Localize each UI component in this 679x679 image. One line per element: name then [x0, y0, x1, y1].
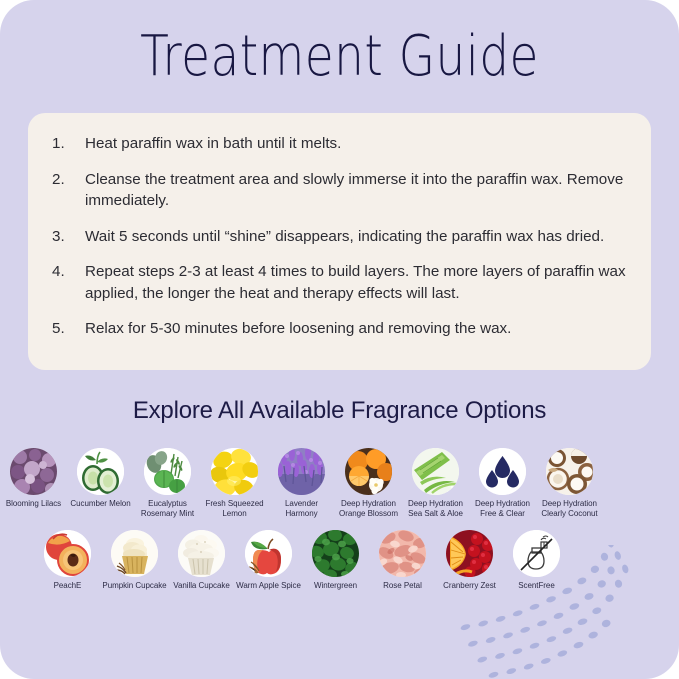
- wintergreen-icon: [312, 530, 359, 577]
- fragrance-label: Fresh Squeezed Lemon: [201, 499, 268, 518]
- fragrance-label: Rose Petal: [369, 581, 436, 591]
- fragrance-label: Pumpkin Cupcake: [101, 581, 168, 591]
- fragrance-option-warm-apple-spice[interactable]: Warm Apple Spice: [235, 530, 302, 591]
- lemon-icon: [211, 448, 258, 495]
- instruction-item: 3. Wait 5 seconds until “shine” disappea…: [52, 226, 633, 248]
- fragrance-label: Warm Apple Spice: [235, 581, 302, 591]
- instruction-item: 2. Cleanse the treatment area and slowly…: [52, 169, 633, 212]
- treatment-guide-card: Treatment Guide 1. Heat paraffin wax in …: [0, 0, 679, 679]
- instruction-item: 4. Repeat steps 2-3 at least 4 times to …: [52, 261, 633, 304]
- fragrance-row-2: PeachE: [0, 530, 679, 591]
- page-root: Treatment Guide 1. Heat paraffin wax in …: [0, 0, 679, 679]
- fragrance-option-deep-hydration-free-clear[interactable]: Deep Hydration Free & Clear: [469, 448, 536, 518]
- instruction-text: Cleanse the treatment area and slowly im…: [85, 171, 623, 210]
- fragrance-option-fresh-squeezed-lemon[interactable]: Fresh Squeezed Lemon: [201, 448, 268, 518]
- fragrance-option-cranberry-zest[interactable]: Cranberry Zest: [436, 530, 503, 591]
- fragrance-row-1: Blooming Lilacs: [0, 448, 679, 518]
- coconut-icon: [546, 448, 593, 495]
- rose-petal-icon: [379, 530, 426, 577]
- fragrance-option-wintergreen[interactable]: Wintergreen: [302, 530, 369, 591]
- page-title: Treatment Guide: [54, 26, 624, 88]
- instruction-number: 4.: [52, 261, 77, 283]
- fragrance-option-rose-petal[interactable]: Rose Petal: [369, 530, 436, 591]
- fragrance-label: Deep Hydration Clearly Coconut: [536, 499, 603, 518]
- water-droplets-icon: [479, 448, 526, 495]
- fragrance-label: Lavender Harmony: [268, 499, 335, 518]
- orange-blossom-icon: [345, 448, 392, 495]
- instruction-number: 2.: [52, 169, 77, 191]
- fragrance-label: Cranberry Zest: [436, 581, 503, 591]
- pumpkin-cupcake-icon: [111, 530, 158, 577]
- fragrance-label: Wintergreen: [302, 581, 369, 591]
- cucumber-icon: [77, 448, 124, 495]
- instruction-number: 1.: [52, 133, 77, 155]
- instruction-number: 5.: [52, 318, 77, 340]
- fragrance-option-deep-hydration-orange-blossom[interactable]: Deep Hydration Orange Blossom: [335, 448, 402, 518]
- fragrance-label: ScentFree: [503, 581, 570, 591]
- fragrance-label: Vanilla Cupcake: [168, 581, 235, 591]
- fragrance-option-lavender-harmony[interactable]: Lavender Harmony: [268, 448, 335, 518]
- fragrance-option-scentfree[interactable]: ScentFree: [503, 530, 570, 591]
- fragrance-option-peache[interactable]: PeachE: [34, 530, 101, 591]
- peach-icon: [44, 530, 91, 577]
- fragrance-option-cucumber-melon[interactable]: Cucumber Melon: [67, 448, 134, 518]
- instruction-item: 5. Relax for 5-30 minutes before looseni…: [52, 318, 633, 340]
- apple-spice-icon: [245, 530, 292, 577]
- cranberry-icon: [446, 530, 493, 577]
- instruction-list: 1. Heat paraffin wax in bath until it me…: [28, 113, 651, 340]
- fragrance-option-deep-hydration-clearly-coconut[interactable]: Deep Hydration Clearly Coconut: [536, 448, 603, 518]
- instruction-item: 1. Heat paraffin wax in bath until it me…: [52, 133, 633, 155]
- lavender-icon: [278, 448, 325, 495]
- instruction-text: Repeat steps 2-3 at least 4 times to bui…: [85, 263, 626, 302]
- fragrance-label: Eucalyptus Rosemary Mint: [134, 499, 201, 518]
- fragrance-option-pumpkin-cupcake[interactable]: Pumpkin Cupcake: [101, 530, 168, 591]
- fragrance-section-heading: Explore All Available Fragrance Options: [0, 396, 679, 426]
- aloe-icon: [412, 448, 459, 495]
- instruction-text: Wait 5 seconds until “shine” disappears,…: [85, 228, 604, 245]
- fragrance-label: Blooming Lilacs: [0, 499, 67, 509]
- lilacs-icon: [10, 448, 57, 495]
- instruction-number: 3.: [52, 226, 77, 248]
- fragrance-label: Deep Hydration Orange Blossom: [335, 499, 402, 518]
- fragrance-label: Deep Hydration Free & Clear: [469, 499, 536, 518]
- vanilla-cupcake-icon: [178, 530, 225, 577]
- fragrance-grid: Blooming Lilacs: [0, 448, 679, 591]
- instructions-panel: 1. Heat paraffin wax in bath until it me…: [28, 113, 651, 370]
- fragrance-label: Cucumber Melon: [67, 499, 134, 509]
- fragrance-option-eucalyptus-rosemary-mint[interactable]: Eucalyptus Rosemary Mint: [134, 448, 201, 518]
- instruction-text: Relax for 5-30 minutes before loosening …: [85, 320, 511, 337]
- fragrance-option-deep-hydration-sea-salt-aloe[interactable]: Deep Hydration Sea Salt & Aloe: [402, 448, 469, 518]
- fragrance-option-blooming-lilacs[interactable]: Blooming Lilacs: [0, 448, 67, 518]
- instruction-text: Heat paraffin wax in bath until it melts…: [85, 135, 341, 152]
- no-scent-icon: [513, 530, 560, 577]
- fragrance-label: Deep Hydration Sea Salt & Aloe: [402, 499, 469, 518]
- fragrance-option-vanilla-cupcake[interactable]: Vanilla Cupcake: [168, 530, 235, 591]
- eucalyptus-icon: [144, 448, 191, 495]
- fragrance-label: PeachE: [34, 581, 101, 591]
